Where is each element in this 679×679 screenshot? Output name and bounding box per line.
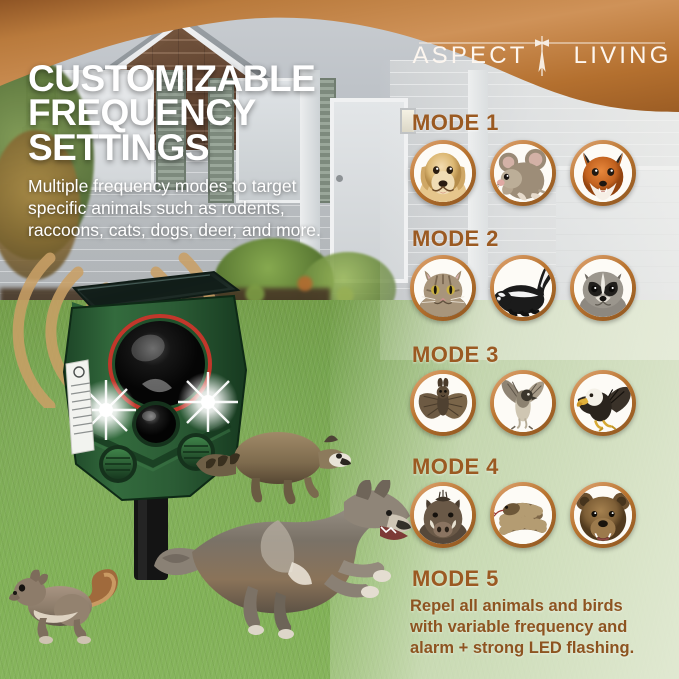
- animal-mouse[interactable]: [490, 140, 556, 206]
- mode-label-5: MODE 5: [412, 566, 499, 592]
- animal-snake[interactable]: [490, 482, 556, 548]
- mode-label-2: MODE 2: [412, 226, 499, 252]
- mode-row-3: [410, 370, 636, 436]
- page-title: CUSTOMIZABLE FREQUENCY SETTINGS: [28, 62, 388, 165]
- animal-raccoon[interactable]: [570, 255, 636, 321]
- mode5-line-1: Repel all animals and birds: [410, 596, 672, 617]
- mode-row-1: [410, 140, 636, 206]
- bat-photo-icon: [414, 374, 472, 432]
- mode-5-description: Repel all animals and birds with variabl…: [410, 596, 672, 659]
- page-subtitle: Multiple frequency modes to target speci…: [28, 175, 358, 242]
- skunk-photo-icon: [494, 259, 552, 317]
- brand-name-left: ASPECT: [412, 42, 527, 70]
- dog-photo-icon: [414, 144, 472, 202]
- bird-photo-icon: [494, 374, 552, 432]
- mode5-line-3: alarm + strong LED flashing.: [410, 638, 672, 659]
- headline-line-3: SETTINGS: [28, 131, 388, 165]
- animal-eagle[interactable]: [570, 370, 636, 436]
- foreground-wolf: [152, 480, 414, 640]
- mode-row-2: [410, 255, 636, 321]
- animal-bear[interactable]: [570, 482, 636, 548]
- animal-fox[interactable]: [570, 140, 636, 206]
- animal-cat[interactable]: [410, 255, 476, 321]
- mode-label-1: MODE 1: [412, 110, 499, 136]
- animal-boar[interactable]: [410, 482, 476, 548]
- brand-logo: ASPECT LIVING: [417, 30, 667, 76]
- animal-skunk[interactable]: [490, 255, 556, 321]
- mode-row-4: [410, 482, 636, 548]
- brand-name-right: LIVING: [574, 42, 672, 70]
- mode-label-4: MODE 4: [412, 454, 499, 480]
- snake-photo-icon: [494, 486, 552, 544]
- raccoon-photo-icon: [574, 259, 632, 317]
- product-marketing-image: ASPECT LIVING CUSTOMIZABLE FREQUENCY SET…: [0, 0, 679, 679]
- subtitle-line-1: Multiple frequency modes to target: [28, 175, 358, 197]
- animal-dog[interactable]: [410, 140, 476, 206]
- bear-photo-icon: [574, 486, 632, 544]
- animal-bat[interactable]: [410, 370, 476, 436]
- subtitle-line-2: specific animals such as rodents,: [28, 197, 358, 219]
- brand-wordmark: ASPECT LIVING: [417, 42, 667, 70]
- headline-line-1: CUSTOMIZABLE: [28, 62, 388, 96]
- subtitle-line-3: raccoons, cats, dogs, deer, and more.: [28, 219, 358, 241]
- mode5-line-2: with variable frequency and: [410, 617, 672, 638]
- headline-line-2: FREQUENCY: [28, 96, 388, 130]
- fox-photo-icon: [574, 144, 632, 202]
- frequency-knob-left: [99, 445, 137, 483]
- mode-label-3: MODE 3: [412, 342, 499, 368]
- cat-photo-icon: [414, 259, 472, 317]
- foreground-squirrel: [8, 560, 126, 644]
- mouse-photo-icon: [494, 144, 552, 202]
- eagle-photo-icon: [574, 374, 632, 432]
- animal-bird[interactable]: [490, 370, 556, 436]
- boar-photo-icon: [414, 486, 472, 544]
